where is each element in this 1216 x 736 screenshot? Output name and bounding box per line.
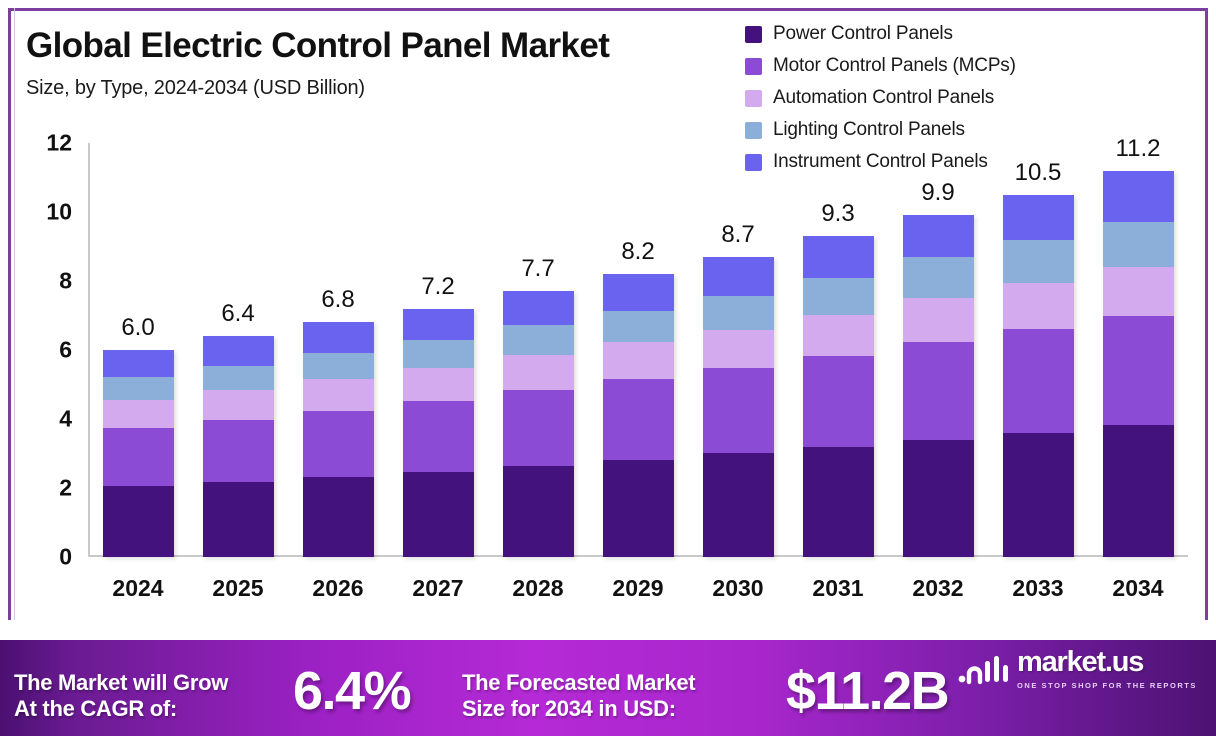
infographic-root: Global Electric Control Panel Market Siz… bbox=[0, 0, 1216, 736]
stacked-bar[interactable] bbox=[403, 309, 474, 557]
page-subtitle: Size, by Type, 2024-2034 (USD Billion) bbox=[26, 77, 609, 100]
bar-segment[interactable] bbox=[203, 336, 274, 366]
bar-group[interactable]: 6.82026 bbox=[293, 143, 383, 557]
bar-segment[interactable] bbox=[103, 377, 174, 400]
bar-group[interactable]: 7.72028 bbox=[493, 143, 583, 557]
legend-item[interactable]: Motor Control Panels (MCPs) bbox=[745, 54, 1016, 78]
bar-segment[interactable] bbox=[503, 291, 574, 324]
bar-segment[interactable] bbox=[1003, 195, 1074, 240]
bar-segment[interactable] bbox=[1103, 267, 1174, 316]
frame-border-left-inner bbox=[14, 8, 15, 620]
legend-swatch-icon bbox=[745, 122, 762, 139]
bar-total-label: 6.4 bbox=[221, 300, 254, 328]
legend-item[interactable]: Automation Control Panels bbox=[745, 86, 1016, 110]
legend-item-label: Lighting Control Panels bbox=[773, 119, 965, 141]
x-axis-tick-label: 2030 bbox=[712, 575, 763, 602]
bar-segment[interactable] bbox=[403, 401, 474, 472]
bar-total-label: 6.8 bbox=[321, 286, 354, 314]
bar-segment[interactable] bbox=[1103, 222, 1174, 267]
bar-segment[interactable] bbox=[903, 298, 974, 343]
stacked-bar[interactable] bbox=[103, 350, 174, 557]
x-axis-tick-label: 2034 bbox=[1112, 575, 1163, 602]
legend-swatch-icon bbox=[745, 90, 762, 107]
cagr-caption-line-2: At the CAGR of: bbox=[14, 696, 228, 722]
stacked-bar[interactable] bbox=[1103, 171, 1174, 557]
bar-total-label: 7.2 bbox=[421, 273, 454, 301]
bar-segment[interactable] bbox=[103, 486, 174, 557]
bar-segment[interactable] bbox=[403, 368, 474, 401]
market-us-logo[interactable]: market.us ONE STOP SHOP FOR THE REPORTS bbox=[958, 648, 1197, 690]
y-axis-tick-label: 4 bbox=[59, 406, 72, 433]
bar-segment[interactable] bbox=[703, 368, 774, 453]
x-axis-tick-label: 2028 bbox=[512, 575, 563, 602]
plot-area: 024681012 6.020246.420256.820267.220277.… bbox=[88, 143, 1188, 557]
x-axis-tick-label: 2024 bbox=[112, 575, 163, 602]
x-axis-tick-label: 2031 bbox=[812, 575, 863, 602]
bar-segment[interactable] bbox=[203, 482, 274, 557]
bar-segment[interactable] bbox=[803, 315, 874, 356]
legend-swatch-icon bbox=[745, 26, 762, 43]
x-axis-tick-label: 2026 bbox=[312, 575, 363, 602]
bar-segment[interactable] bbox=[503, 355, 574, 391]
legend-swatch-icon bbox=[745, 58, 762, 75]
forecast-caption: The Forecasted Market Size for 2034 in U… bbox=[462, 670, 695, 722]
bar-segment[interactable] bbox=[603, 274, 674, 311]
bar-segment[interactable] bbox=[703, 330, 774, 368]
bar-group[interactable]: 7.22027 bbox=[393, 143, 483, 557]
bar-segment[interactable] bbox=[1103, 171, 1174, 222]
bar-segment[interactable] bbox=[103, 428, 174, 486]
legend-item-label: Motor Control Panels (MCPs) bbox=[773, 55, 1016, 77]
legend-item-label: Power Control Panels bbox=[773, 23, 953, 45]
bar-segment[interactable] bbox=[803, 236, 874, 278]
bar-group[interactable]: 8.72030 bbox=[693, 143, 783, 557]
cagr-value: 6.4% bbox=[293, 660, 410, 722]
bar-segment[interactable] bbox=[203, 390, 274, 420]
chart-header: Global Electric Control Panel Market Siz… bbox=[26, 26, 609, 100]
bar-segment[interactable] bbox=[603, 379, 674, 460]
bar-total-label: 7.7 bbox=[521, 255, 554, 283]
bar-segment[interactable] bbox=[403, 309, 474, 341]
x-axis-tick-label: 2029 bbox=[612, 575, 663, 602]
stacked-bar[interactable] bbox=[903, 215, 974, 557]
bar-total-label: 10.5 bbox=[1015, 159, 1062, 187]
bar-segment[interactable] bbox=[703, 257, 774, 296]
bar-total-label: 9.3 bbox=[821, 200, 854, 228]
bar-total-label: 6.0 bbox=[121, 314, 154, 342]
bar-segment[interactable] bbox=[503, 390, 574, 466]
page-title: Global Electric Control Panel Market bbox=[26, 26, 609, 66]
forecast-value: $11.2B bbox=[786, 660, 948, 722]
y-axis-tick-label: 12 bbox=[46, 130, 72, 157]
bar-group[interactable]: 11.22034 bbox=[1093, 143, 1183, 557]
bar-segment[interactable] bbox=[303, 322, 374, 353]
bar-segment[interactable] bbox=[303, 411, 374, 477]
bar-total-label: 8.2 bbox=[621, 238, 654, 266]
bar-segment[interactable] bbox=[903, 342, 974, 439]
bar-segment[interactable] bbox=[1003, 240, 1074, 283]
forecast-caption-line-1: The Forecasted Market bbox=[462, 670, 695, 696]
y-axis-tick-label: 10 bbox=[46, 199, 72, 226]
bar-group[interactable]: 9.32031 bbox=[793, 143, 883, 557]
bar-segment[interactable] bbox=[1003, 283, 1074, 329]
bar-segment[interactable] bbox=[703, 453, 774, 557]
bar-segment[interactable] bbox=[603, 311, 674, 343]
bar-segment[interactable] bbox=[903, 440, 974, 557]
bar-segment[interactable] bbox=[303, 379, 374, 411]
bar-series-container: 6.020246.420256.820267.220277.720288.220… bbox=[88, 143, 1188, 557]
legend-item-label: Automation Control Panels bbox=[773, 87, 994, 109]
bar-segment[interactable] bbox=[903, 215, 974, 257]
x-axis-tick-label: 2032 bbox=[912, 575, 963, 602]
bar-segment[interactable] bbox=[503, 466, 574, 557]
bar-segment[interactable] bbox=[703, 296, 774, 331]
logo-wordmark: market.us bbox=[1017, 648, 1197, 677]
bar-segment[interactable] bbox=[103, 400, 174, 428]
x-axis-tick-label: 2033 bbox=[1012, 575, 1063, 602]
bar-segment[interactable] bbox=[803, 356, 874, 446]
bar-segment[interactable] bbox=[1103, 425, 1174, 557]
cagr-caption: The Market will Grow At the CAGR of: bbox=[14, 670, 228, 722]
bar-segment[interactable] bbox=[403, 340, 474, 367]
bar-segment[interactable] bbox=[103, 350, 174, 377]
y-axis-tick-label: 0 bbox=[59, 544, 72, 571]
logo-tagline: ONE STOP SHOP FOR THE REPORTS bbox=[1017, 681, 1197, 690]
bar-segment[interactable] bbox=[203, 366, 274, 390]
legend-item[interactable]: Power Control Panels bbox=[745, 22, 1016, 46]
y-axis-tick-label: 8 bbox=[59, 268, 72, 295]
y-axis-tick-label: 6 bbox=[59, 337, 72, 364]
stacked-bar[interactable] bbox=[203, 336, 274, 557]
bar-segment[interactable] bbox=[303, 353, 374, 379]
bar-segment[interactable] bbox=[503, 325, 574, 355]
stacked-bar[interactable] bbox=[303, 322, 374, 557]
legend-item[interactable]: Lighting Control Panels bbox=[745, 118, 1016, 142]
forecast-caption-line-2: Size for 2034 in USD: bbox=[462, 696, 695, 722]
frame-border-right bbox=[1205, 8, 1208, 620]
bar-segment[interactable] bbox=[203, 420, 274, 482]
stacked-bar[interactable] bbox=[603, 274, 674, 557]
stacked-bar[interactable] bbox=[703, 257, 774, 557]
frame-border-top bbox=[8, 8, 1208, 11]
bar-group[interactable]: 10.52033 bbox=[993, 143, 1083, 557]
cagr-caption-line-1: The Market will Grow bbox=[14, 670, 228, 696]
bar-group[interactable]: 8.22029 bbox=[593, 143, 683, 557]
bar-segment[interactable] bbox=[803, 447, 874, 557]
bar-segment[interactable] bbox=[1003, 433, 1074, 557]
bar-total-label: 8.7 bbox=[721, 221, 754, 249]
bar-group[interactable]: 6.42025 bbox=[193, 143, 283, 557]
x-axis-tick-label: 2027 bbox=[412, 575, 463, 602]
bar-segment[interactable] bbox=[603, 342, 674, 379]
bar-segment[interactable] bbox=[303, 477, 374, 557]
frame-border-left bbox=[8, 8, 11, 620]
bar-segment[interactable] bbox=[603, 460, 674, 557]
stacked-bar[interactable] bbox=[503, 291, 574, 557]
stacked-bar[interactable] bbox=[1003, 195, 1074, 557]
logo-text: market.us ONE STOP SHOP FOR THE REPORTS bbox=[1017, 648, 1197, 690]
bar-segment[interactable] bbox=[803, 278, 874, 315]
bar-segment[interactable] bbox=[403, 472, 474, 557]
x-axis-tick-label: 2025 bbox=[212, 575, 263, 602]
bar-total-label: 9.9 bbox=[921, 179, 954, 207]
logo-mark-icon bbox=[958, 652, 1008, 686]
bar-total-label: 11.2 bbox=[1116, 135, 1161, 163]
y-axis-tick-label: 2 bbox=[59, 475, 72, 502]
bar-group[interactable]: 6.02024 bbox=[93, 143, 183, 557]
bar-segment[interactable] bbox=[903, 257, 974, 297]
bar-segment[interactable] bbox=[1003, 329, 1074, 433]
bar-segment[interactable] bbox=[1103, 316, 1174, 425]
stacked-bar[interactable] bbox=[803, 236, 874, 557]
bar-group[interactable]: 9.92032 bbox=[893, 143, 983, 557]
